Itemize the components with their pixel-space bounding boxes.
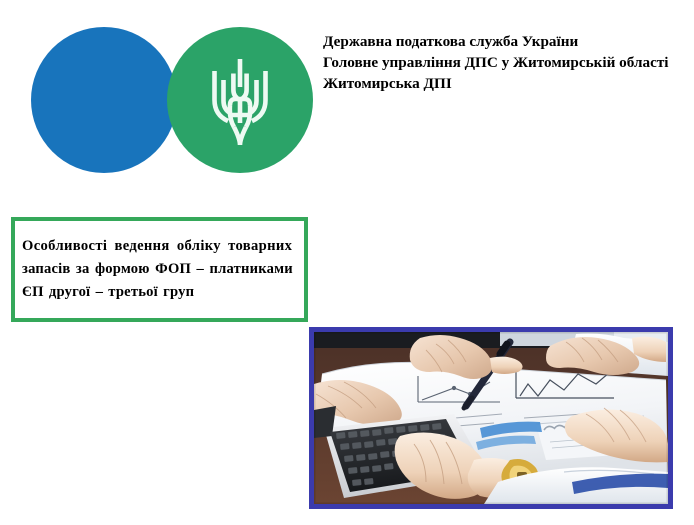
title-line-2: запасів за формою ФОП – платниками <box>22 258 304 281</box>
photo-image <box>314 332 668 504</box>
logo-blue-circle <box>31 27 177 173</box>
title-line-3: ЄП другої – третьої груп <box>22 281 304 304</box>
business-meeting-photo <box>309 327 673 509</box>
title-box-text: Особливості ведення обліку товарних запа… <box>22 235 304 304</box>
title-box: Особливості ведення обліку товарних запа… <box>11 217 308 322</box>
trident-icon <box>167 27 313 173</box>
header-line-1: Державна податкова служба України <box>323 31 691 52</box>
header-line-2: Головне управління ДПС у Житомирській об… <box>323 52 691 73</box>
title-line-1: Особливості ведення обліку товарних <box>22 235 304 258</box>
organization-header: Державна податкова служба України Головн… <box>323 31 691 94</box>
dps-ukraine-logo <box>31 27 313 173</box>
header-line-3: Житомирська ДПІ <box>323 73 691 94</box>
slide-canvas: Державна податкова служба України Головн… <box>0 0 694 525</box>
